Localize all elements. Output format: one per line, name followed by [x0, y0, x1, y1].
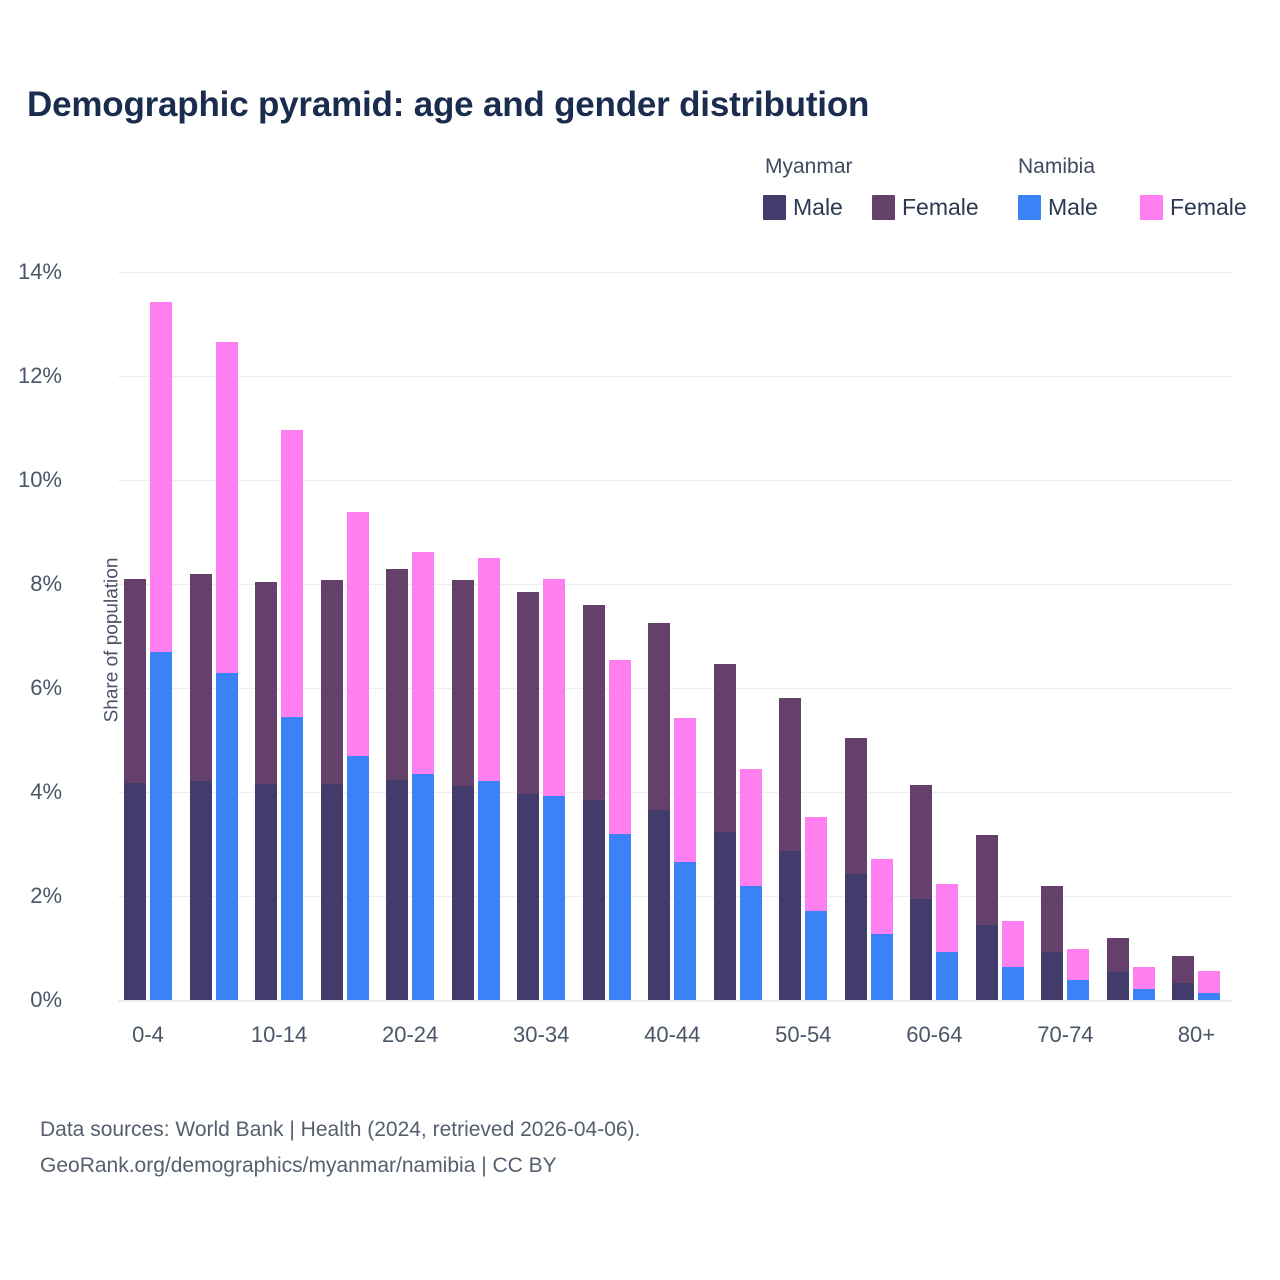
bar-segment-myanmar-male	[779, 851, 801, 1000]
bar-namibia[interactable]	[805, 817, 827, 1000]
bar-segment-namibia-female	[871, 859, 893, 934]
bar-segment-myanmar-male	[190, 781, 212, 1000]
bar-segment-myanmar-female	[779, 698, 801, 851]
bar-segment-namibia-female	[609, 660, 631, 834]
bar-group[interactable]	[386, 272, 452, 1000]
bar-segment-myanmar-male	[386, 780, 408, 1000]
bar-segment-namibia-female	[674, 718, 696, 862]
bar-myanmar[interactable]	[1172, 956, 1194, 1000]
bar-segment-myanmar-female	[124, 579, 146, 783]
bar-segment-myanmar-female	[386, 569, 408, 780]
bar-group[interactable]	[1107, 272, 1173, 1000]
bar-segment-namibia-male	[347, 756, 369, 1000]
bar-myanmar[interactable]	[648, 623, 670, 1000]
x-axis-tick-label: 60-64	[906, 1022, 962, 1048]
bar-segment-myanmar-female	[714, 664, 736, 832]
plot-canvas: 0%2%4%6%8%10%12%14%	[118, 272, 1232, 1000]
bar-namibia[interactable]	[1002, 921, 1024, 1000]
bar-namibia[interactable]	[347, 512, 369, 1000]
y-axis-tick-label: 6%	[0, 675, 62, 701]
bar-group[interactable]	[190, 272, 256, 1000]
bar-myanmar[interactable]	[1041, 886, 1063, 1000]
bar-myanmar[interactable]	[255, 582, 277, 1000]
bar-segment-namibia-male	[412, 774, 434, 1000]
bar-segment-namibia-male	[281, 717, 303, 1000]
bar-segment-myanmar-female	[976, 835, 998, 925]
bar-namibia[interactable]	[871, 859, 893, 1000]
bar-segment-namibia-female	[478, 558, 500, 781]
chart-footer: Data sources: World Bank | Health (2024,…	[40, 1112, 640, 1184]
bar-segment-namibia-female	[412, 552, 434, 774]
bar-segment-namibia-female	[150, 302, 172, 651]
bar-segment-myanmar-female	[845, 738, 867, 874]
bar-segment-myanmar-male	[910, 899, 932, 1000]
bar-group[interactable]	[976, 272, 1042, 1000]
bar-segment-myanmar-female	[648, 623, 670, 810]
bar-segment-namibia-female	[740, 769, 762, 885]
bar-segment-namibia-female	[1133, 967, 1155, 989]
y-axis-tick-label: 0%	[0, 987, 62, 1013]
bar-segment-namibia-male	[805, 911, 827, 1000]
bar-myanmar[interactable]	[1107, 938, 1129, 1000]
bar-segment-myanmar-male	[976, 925, 998, 1000]
bar-segment-myanmar-male	[648, 810, 670, 1000]
bar-myanmar[interactable]	[190, 574, 212, 1000]
bar-segment-myanmar-female	[1172, 956, 1194, 983]
bar-segment-myanmar-female	[1107, 938, 1129, 973]
bar-segment-myanmar-male	[124, 783, 146, 1000]
bar-namibia[interactable]	[150, 302, 172, 1000]
bar-group[interactable]	[255, 272, 321, 1000]
bar-segment-myanmar-male	[1172, 983, 1194, 1000]
x-axis-tick-label: 50-54	[775, 1022, 831, 1048]
bar-segment-namibia-female	[543, 579, 565, 796]
bar-segment-myanmar-female	[910, 785, 932, 899]
x-axis-tick-label: 40-44	[644, 1022, 700, 1048]
bar-myanmar[interactable]	[124, 579, 146, 1000]
y-axis-tick-label: 4%	[0, 779, 62, 805]
bar-group[interactable]	[517, 272, 583, 1000]
bar-segment-myanmar-male	[714, 832, 736, 1000]
bar-namibia[interactable]	[1198, 971, 1220, 1000]
bar-group[interactable]	[648, 272, 714, 1000]
bar-segment-myanmar-female	[190, 574, 212, 781]
bar-segment-namibia-female	[1067, 949, 1089, 980]
bar-segment-namibia-female	[1002, 921, 1024, 967]
x-axis-tick-label: 20-24	[382, 1022, 438, 1048]
bar-group[interactable]	[452, 272, 518, 1000]
bar-segment-myanmar-male	[517, 794, 539, 1000]
plot-area: Share of population 0%2%4%6%8%10%12%14% …	[0, 0, 1280, 1280]
bar-myanmar[interactable]	[779, 698, 801, 1000]
bar-namibia[interactable]	[412, 552, 434, 1000]
bar-namibia[interactable]	[609, 660, 631, 1000]
bar-segment-namibia-male	[478, 781, 500, 1000]
bar-segment-namibia-male	[150, 652, 172, 1000]
bar-myanmar[interactable]	[910, 785, 932, 1000]
y-axis-tick-label: 2%	[0, 883, 62, 909]
bar-segment-namibia-male	[1067, 980, 1089, 1000]
bar-myanmar[interactable]	[976, 835, 998, 1000]
bar-namibia[interactable]	[1067, 949, 1089, 1000]
bar-segment-myanmar-male	[452, 786, 474, 1000]
bar-namibia[interactable]	[1133, 967, 1155, 1000]
bar-myanmar[interactable]	[321, 580, 343, 1000]
bar-namibia[interactable]	[216, 342, 238, 1000]
bar-myanmar[interactable]	[452, 580, 474, 1000]
bar-segment-namibia-male	[740, 886, 762, 1000]
x-axis-tick-label: 30-34	[513, 1022, 569, 1048]
bar-myanmar[interactable]	[386, 569, 408, 1000]
bar-segment-namibia-male	[1133, 989, 1155, 1000]
bar-segment-myanmar-male	[1107, 972, 1129, 1000]
bar-segment-myanmar-male	[845, 874, 867, 1000]
bar-segment-myanmar-female	[1041, 886, 1063, 952]
bar-segment-namibia-female	[936, 884, 958, 952]
bar-segment-myanmar-male	[255, 784, 277, 1000]
bar-myanmar[interactable]	[517, 592, 539, 1000]
bar-myanmar[interactable]	[714, 664, 736, 1000]
footer-data-sources: Data sources: World Bank | Health (2024,…	[40, 1112, 640, 1148]
bar-namibia[interactable]	[674, 718, 696, 1000]
bar-group[interactable]	[1041, 272, 1107, 1000]
bar-segment-myanmar-female	[583, 605, 605, 799]
bar-segment-namibia-male	[543, 796, 565, 1000]
bar-segment-namibia-male	[936, 952, 958, 1000]
bar-segment-myanmar-female	[255, 582, 277, 784]
bar-group[interactable]	[321, 272, 387, 1000]
bar-segment-myanmar-female	[517, 592, 539, 794]
bar-segment-myanmar-female	[321, 580, 343, 784]
y-axis-tick-label: 14%	[0, 259, 62, 285]
bar-segment-namibia-female	[281, 430, 303, 717]
bar-namibia[interactable]	[543, 579, 565, 1000]
bar-group[interactable]	[583, 272, 649, 1000]
bar-group[interactable]	[779, 272, 845, 1000]
bar-segment-namibia-female	[347, 512, 369, 755]
bar-segment-myanmar-female	[452, 580, 474, 785]
bar-segment-namibia-female	[1198, 971, 1220, 993]
bar-group[interactable]	[124, 272, 190, 1000]
bar-namibia[interactable]	[281, 430, 303, 1000]
bar-namibia[interactable]	[740, 769, 762, 1000]
bar-segment-namibia-male	[871, 934, 893, 1000]
bar-segment-namibia-male	[674, 862, 696, 1000]
y-axis-tick-label: 12%	[0, 363, 62, 389]
y-axis-tick-label: 8%	[0, 571, 62, 597]
chart-page: Demographic pyramid: age and gender dist…	[0, 0, 1280, 1280]
bar-segment-namibia-male	[609, 834, 631, 1000]
bar-segment-myanmar-male	[1041, 952, 1063, 1000]
bar-group[interactable]	[910, 272, 976, 1000]
x-axis-tick-label: 70-74	[1037, 1022, 1093, 1048]
x-axis-tick-label: 0-4	[132, 1022, 164, 1048]
bar-myanmar[interactable]	[845, 738, 867, 1000]
bar-group[interactable]	[845, 272, 911, 1000]
footer-attribution: GeoRank.org/demographics/myanmar/namibia…	[40, 1148, 640, 1184]
bar-namibia[interactable]	[936, 884, 958, 1000]
bar-segment-namibia-male	[1198, 993, 1220, 1000]
bar-group[interactable]	[714, 272, 780, 1000]
bar-segment-namibia-female	[216, 342, 238, 673]
bar-myanmar[interactable]	[583, 605, 605, 1000]
bar-group[interactable]	[1172, 272, 1238, 1000]
bar-segment-namibia-female	[805, 817, 827, 911]
x-axis-tick-label: 80+	[1178, 1022, 1215, 1048]
gridline	[118, 1000, 1232, 1002]
x-axis-tick-label: 10-14	[251, 1022, 307, 1048]
bar-segment-namibia-male	[216, 673, 238, 1000]
bar-segment-namibia-male	[1002, 967, 1024, 1000]
bar-namibia[interactable]	[478, 558, 500, 1000]
bar-segment-myanmar-male	[321, 784, 343, 1000]
y-axis-tick-label: 10%	[0, 467, 62, 493]
bar-segment-myanmar-male	[583, 800, 605, 1000]
